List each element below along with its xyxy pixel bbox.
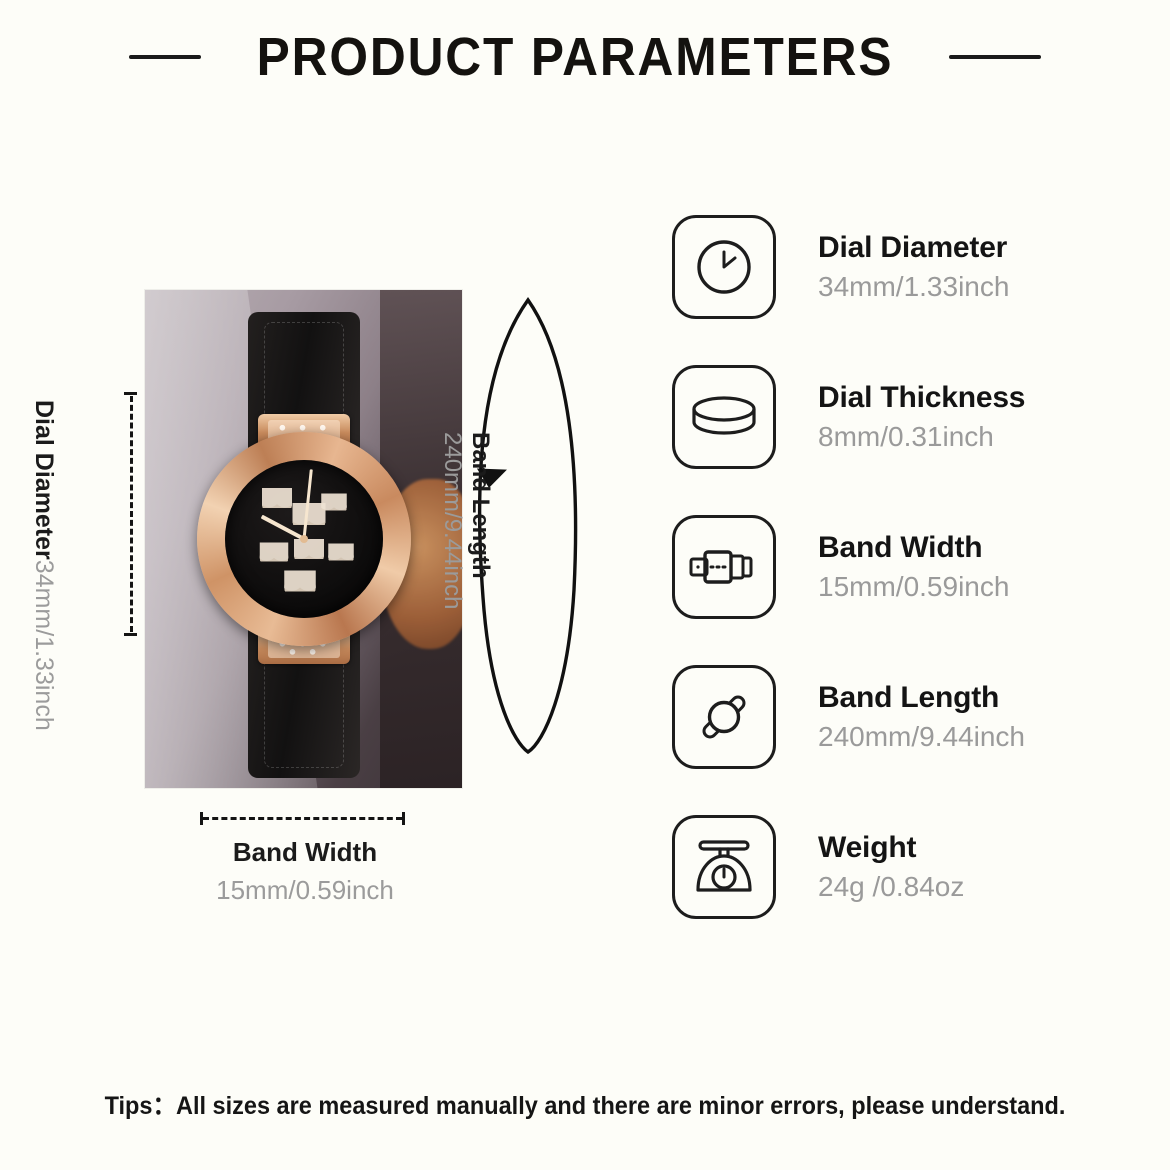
butterfly-motif <box>294 539 324 559</box>
tips-note: Tips：All sizes are measured manually and… <box>35 1086 1135 1122</box>
band-length-annotation-name: Band Length <box>466 432 494 672</box>
butterfly-motif <box>284 570 316 591</box>
band-length-icon <box>672 665 776 769</box>
product-photo <box>145 290 462 788</box>
band-length-annotation-value: 240mm/9.44inch <box>438 432 466 672</box>
spec-value: 240mm/9.44inch <box>818 718 1025 756</box>
spec-value: 15mm/0.59inch <box>818 568 1009 606</box>
spec-text: Band Length 240mm/9.44inch <box>818 678 1025 756</box>
spec-value: 8mm/0.31inch <box>818 418 1025 456</box>
spec-row-dial-thickness: Dial Thickness 8mm/0.31inch <box>672 365 1092 469</box>
watch-dial <box>225 460 383 618</box>
band-width-annotation-value: 15mm/0.59inch <box>180 871 430 909</box>
spec-text: Dial Thickness 8mm/0.31inch <box>818 378 1025 456</box>
page-title: PRODUCT PARAMETERS <box>257 26 894 88</box>
spec-text: Band Width 15mm/0.59inch <box>818 528 1009 606</box>
measure-dashed-line <box>203 817 402 820</box>
dial-diameter-annotation-value: 34mm/1.33inch <box>29 560 58 731</box>
butterfly-motif <box>328 544 354 561</box>
spec-name: Band Length <box>818 678 1025 718</box>
spec-list: Dial Diameter 34mm/1.33inch Dial Thickne… <box>672 215 1092 965</box>
band-width-annotation-name: Band Width <box>180 833 430 871</box>
measure-dashed-line <box>130 396 133 632</box>
spec-name: Dial Diameter <box>818 228 1009 268</box>
spec-row-band-length: Band Length 240mm/9.44inch <box>672 665 1092 769</box>
band-width-measure-line <box>200 812 405 825</box>
spec-text: Dial Diameter 34mm/1.33inch <box>818 228 1009 306</box>
weight-scale-icon <box>672 815 776 919</box>
dial-diameter-annotation-name: Dial Diameter <box>29 400 58 560</box>
spec-text: Weight 24g /0.84oz <box>818 828 964 906</box>
measure-cap-bottom <box>124 633 137 636</box>
spec-name: Band Width <box>818 528 1009 568</box>
measure-cap-right <box>402 812 405 825</box>
title-rule-right <box>949 55 1041 59</box>
spec-row-weight: Weight 24g /0.84oz <box>672 815 1092 919</box>
dial-diameter-measure-line <box>124 392 137 636</box>
spec-row-dial-diameter: Dial Diameter 34mm/1.33inch <box>672 215 1092 319</box>
spec-name: Weight <box>818 828 964 868</box>
watch-dial-icon <box>672 215 776 319</box>
butterfly-motif <box>322 493 348 510</box>
title-rule-left <box>129 55 201 59</box>
band-length-annotation: Band Length 240mm/9.44inch <box>438 432 494 672</box>
spec-row-band-width: Band Width 15mm/0.59inch <box>672 515 1092 619</box>
measure-cap-top <box>124 392 137 395</box>
butterfly-motif <box>260 543 289 562</box>
page-header: PRODUCT PARAMETERS <box>0 22 1170 92</box>
dial-thickness-icon <box>672 365 776 469</box>
watch-center-pin <box>300 535 308 543</box>
band-width-annotation: Band Width 15mm/0.59inch <box>180 833 430 909</box>
butterfly-motif <box>262 488 292 508</box>
spec-value: 24g /0.84oz <box>818 868 964 906</box>
dial-diameter-annotation: Dial Diameter 34mm/1.33inch <box>28 400 58 630</box>
spec-value: 34mm/1.33inch <box>818 268 1009 306</box>
spec-name: Dial Thickness <box>818 378 1025 418</box>
band-width-icon <box>672 515 776 619</box>
watch-body <box>197 432 411 646</box>
